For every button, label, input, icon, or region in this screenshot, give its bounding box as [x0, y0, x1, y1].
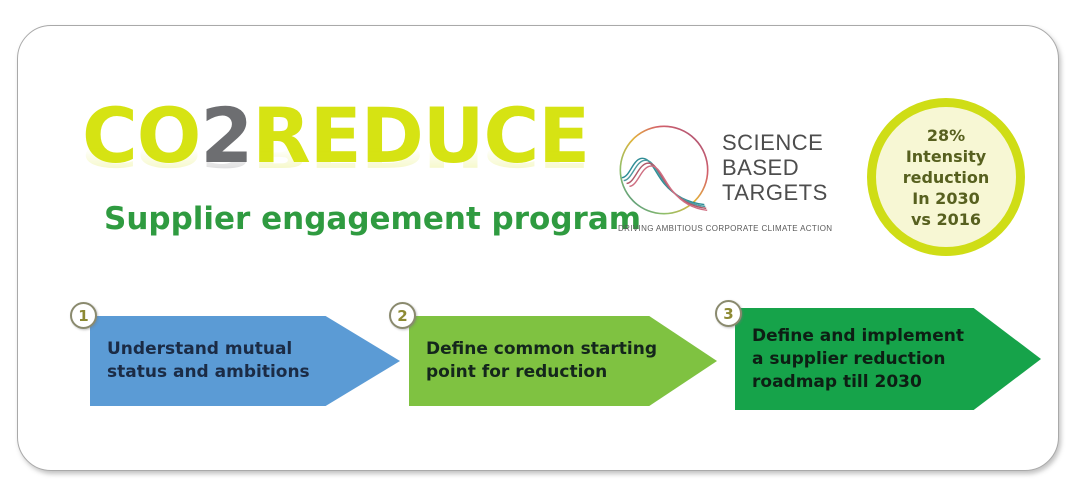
logo-text-reduce: REDUCE	[252, 91, 589, 180]
badge-text: 28% Intensity reduction In 2030 vs 2016	[903, 125, 990, 230]
sbt-wordmark: SCIENCE BASED TARGETS	[722, 130, 828, 205]
step-3-arrow[interactable]: Define and implement a supplier reductio…	[735, 308, 1041, 410]
step-2-arrow[interactable]: Define common starting point for reducti…	[409, 316, 717, 406]
sbt-tagline: DRIVING AMBITIOUS CORPORATE CLIMATE ACTI…	[618, 224, 832, 233]
page-subtitle: Supplier engagement program	[104, 202, 641, 236]
intensity-reduction-badge: 28% Intensity reduction In 2030 vs 2016	[867, 98, 1025, 256]
sbt-circle-wave-icon	[616, 122, 712, 218]
sbt-line-2: BASED	[722, 155, 828, 180]
slide-canvas: CO2REDUCE CO2REDUCE Supplier engagement …	[0, 0, 1083, 500]
step-3-label: Define and implement a supplier reductio…	[735, 325, 1004, 394]
page-title: CO2REDUCE	[82, 98, 602, 174]
logo-text-two: 2	[200, 91, 252, 180]
step-1-arrow[interactable]: Understand mutual status and ambitions	[90, 316, 400, 406]
co2reduce-logo: CO2REDUCE CO2REDUCE Supplier engagement …	[82, 98, 602, 174]
step-3-number-badge: 3	[715, 300, 742, 327]
logo-text-co: CO	[82, 91, 200, 180]
slide-card: CO2REDUCE CO2REDUCE Supplier engagement …	[17, 25, 1059, 471]
sbt-line-3: TARGETS	[722, 180, 828, 205]
step-2-number-badge: 2	[389, 302, 416, 329]
step-2-label: Define common starting point for reducti…	[409, 338, 697, 384]
step-1-label: Understand mutual status and ambitions	[90, 338, 350, 384]
process-steps: Understand mutual status and ambitions 1…	[18, 302, 1083, 432]
sbt-line-1: SCIENCE	[722, 130, 828, 155]
science-based-targets-logo: SCIENCE BASED TARGETS DRIVING AMBITIOUS …	[616, 122, 848, 240]
step-1-number-badge: 1	[70, 302, 97, 329]
